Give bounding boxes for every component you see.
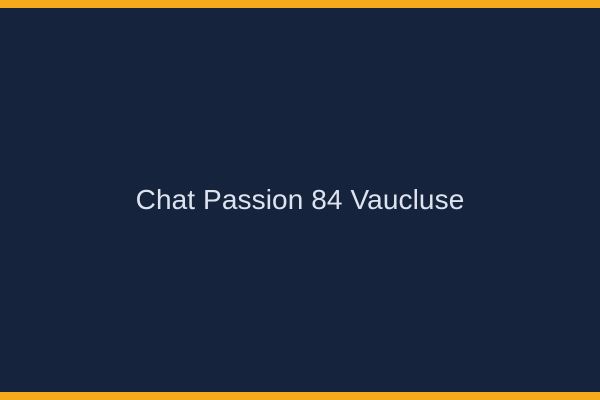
placeholder-caption: Chat Passion 84 Vaucluse bbox=[120, 183, 481, 217]
top-accent-bar bbox=[0, 0, 600, 8]
placeholder-card: Chat Passion 84 Vaucluse bbox=[0, 0, 600, 400]
caption-container: Chat Passion 84 Vaucluse bbox=[0, 0, 600, 400]
bottom-accent-bar bbox=[0, 392, 600, 400]
